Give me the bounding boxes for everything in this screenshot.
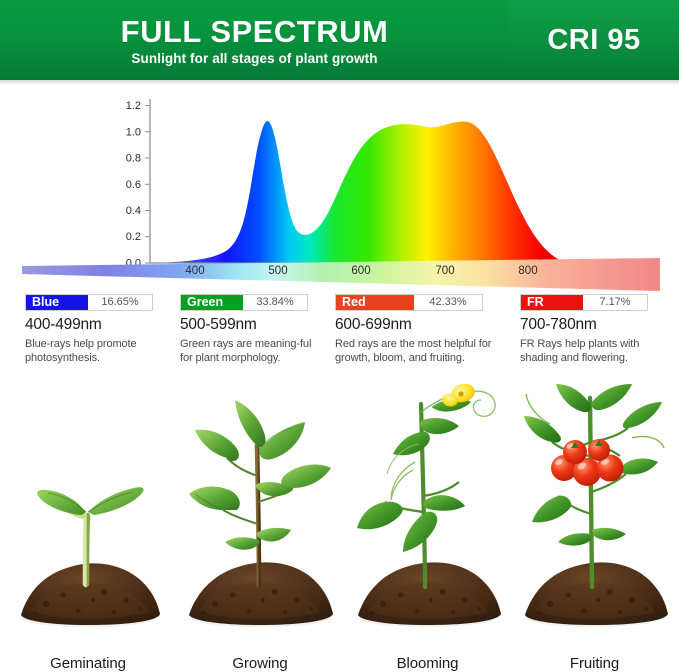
band-percent-fr: 7.17%	[583, 295, 647, 310]
seedling-illustration	[8, 384, 168, 646]
spectrum-chart-svg: 0.0 0.2 0.4 0.6 0.8 1.0 1.2	[0, 85, 679, 285]
growth-stage-gallery: Geminating	[0, 372, 679, 672]
spectrum-chart: 0.0 0.2 0.4 0.6 0.8 1.0 1.2	[0, 85, 679, 285]
growth-stage-label-2: Blooming	[345, 655, 510, 672]
band-percent-red: 42.33%	[414, 295, 482, 310]
x-tick-label: 500	[268, 265, 287, 277]
y-tick-label: 0.6	[126, 179, 141, 191]
band-percent-green: 33.84%	[243, 295, 307, 310]
fruiting-plant-illustration	[512, 384, 677, 646]
spectrum-band-cards: Blue 16.65% 400-499nm Blue-rays help pro…	[0, 294, 679, 369]
growth-stage-geminating: Geminating	[8, 372, 168, 672]
band-description-green: Green rays are meaning-ful for plant mor…	[180, 337, 325, 365]
band-badge-blue: Blue 16.65%	[25, 294, 153, 311]
x-tick-label: 700	[435, 265, 454, 277]
band-description-red: Red rays are the most helpful for growth…	[335, 337, 510, 365]
cri-panel: CRI 95	[509, 0, 679, 80]
band-card-blue: Blue 16.65% 400-499nm Blue-rays help pro…	[25, 294, 170, 365]
wedge-shape	[22, 258, 660, 291]
growth-stage-label-3: Fruiting	[512, 655, 677, 672]
young-plant-illustration	[175, 384, 345, 646]
flowering-plant-illustration	[345, 384, 510, 646]
page-header: FULL SPECTRUM Sunlight for all stages of…	[0, 0, 679, 80]
band-card-fr: FR 7.17% 700-780nm FR Rays help plants w…	[520, 294, 665, 365]
x-tick-label: 800	[518, 265, 537, 277]
y-tick-label: 0.8	[126, 153, 141, 165]
header-title-panel: FULL SPECTRUM Sunlight for all stages of…	[0, 0, 509, 80]
page-title: FULL SPECTRUM	[121, 15, 389, 49]
band-range-blue: 400-499nm	[25, 316, 170, 334]
band-range-green: 500-599nm	[180, 316, 325, 334]
band-card-red: Red 42.33% 600-699nm Red rays are the mo…	[335, 294, 510, 365]
x-tick-label: 400	[185, 265, 204, 277]
spectrum-wedge-svg: 400 500 600 700 800	[0, 258, 679, 298]
band-range-red: 600-699nm	[335, 316, 510, 334]
growth-stage-fruiting: Fruiting	[512, 372, 677, 672]
y-tick-label: 1.2	[126, 100, 141, 112]
band-name-blue: Blue	[26, 295, 88, 310]
band-badge-green: Green 33.84%	[180, 294, 308, 311]
band-card-green: Green 33.84% 500-599nm Green rays are me…	[180, 294, 325, 365]
y-tick-label: 1.0	[126, 126, 141, 138]
band-range-fr: 700-780nm	[520, 316, 665, 334]
spectrum-curve-area	[150, 121, 570, 263]
growth-stage-label-0: Geminating	[8, 655, 168, 672]
growth-stage-blooming: Blooming	[345, 372, 510, 672]
band-description-blue: Blue-rays help promote photosynthesis.	[25, 337, 170, 365]
band-name-fr: FR	[521, 295, 583, 310]
y-tick-label: 0.4	[126, 205, 141, 217]
band-description-fr: FR Rays help plants with shading and flo…	[520, 337, 665, 365]
growth-stage-growing: Growing	[175, 372, 345, 672]
y-tick-label: 0.2	[126, 231, 141, 243]
x-tick-label: 600	[351, 265, 370, 277]
tomato-cluster	[551, 439, 624, 486]
band-badge-red: Red 42.33%	[335, 294, 483, 311]
band-name-green: Green	[181, 295, 243, 310]
band-badge-fr: FR 7.17%	[520, 294, 648, 311]
y-axis-tick-labels: 0.0 0.2 0.4 0.6 0.8 1.0 1.2	[126, 100, 141, 269]
y-axis-ticks	[145, 106, 150, 263]
cri-badge-label: CRI 95	[547, 24, 640, 57]
page-subtitle: Sunlight for all stages of plant growth	[131, 51, 377, 66]
band-percent-blue: 16.65%	[88, 295, 152, 310]
visible-spectrum-wedge: 400 500 600 700 800	[0, 258, 679, 293]
growth-stage-label-1: Growing	[175, 655, 345, 672]
band-name-red: Red	[336, 295, 414, 310]
